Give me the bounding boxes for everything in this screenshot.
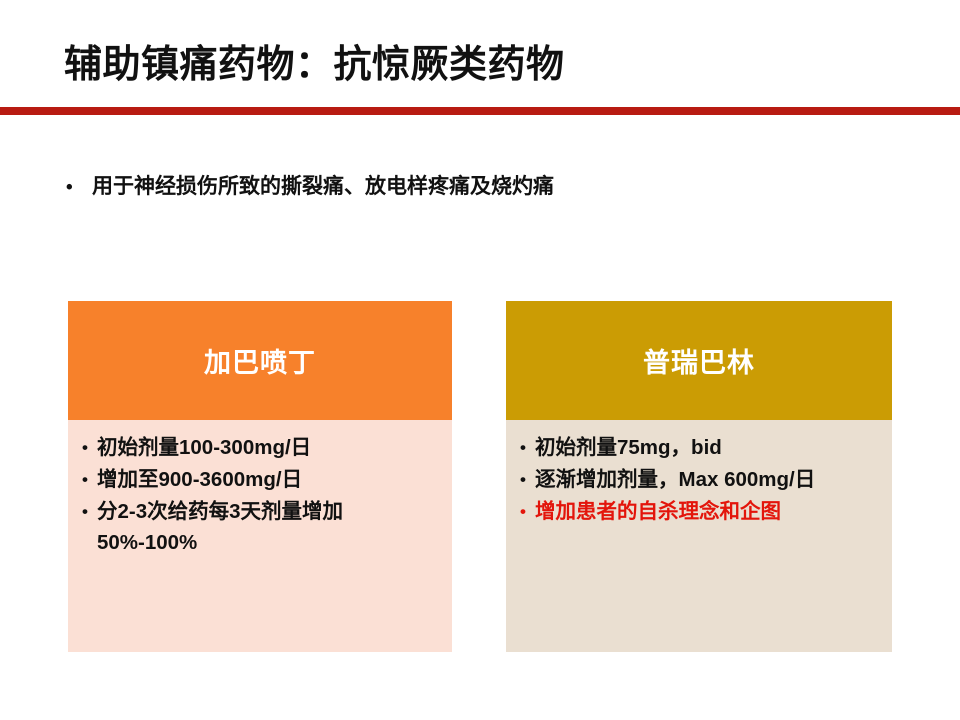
bullet-marker-icon: • bbox=[66, 173, 92, 203]
page-title: 辅助镇痛药物：抗惊厥类药物 bbox=[64, 40, 924, 90]
bullet-marker-icon: • bbox=[520, 496, 535, 527]
bullet-marker-icon: • bbox=[82, 464, 97, 495]
list-item: • 逐渐增加剂量，Max 600mg/日 bbox=[520, 464, 878, 495]
list-item-text: 分2-3次给药每3天剂量增加50%-100% bbox=[97, 496, 438, 558]
list-item-text: 增加患者的自杀理念和企图 bbox=[535, 496, 878, 527]
lead-bullet-text: 用于神经损伤所致的撕裂痛、放电样疼痛及烧灼痛 bbox=[92, 172, 906, 202]
list-item: • 分2-3次给药每3天剂量增加50%-100% bbox=[82, 496, 438, 558]
drug-card-pregabalin-body: • 初始剂量75mg，bid • 逐渐增加剂量，Max 600mg/日 • 增加… bbox=[506, 420, 892, 652]
lead-bullet: • 用于神经损伤所致的撕裂痛、放电样疼痛及烧灼痛 bbox=[66, 172, 906, 203]
drug-card-gabapentin-header: 加巴喷丁 bbox=[68, 301, 452, 420]
list-item: • 初始剂量100-300mg/日 bbox=[82, 432, 438, 463]
bullet-marker-icon: • bbox=[82, 496, 97, 527]
list-item-text: 逐渐增加剂量，Max 600mg/日 bbox=[535, 464, 878, 495]
list-item-text: 初始剂量75mg，bid bbox=[535, 432, 878, 463]
list-item-text: 增加至900-3600mg/日 bbox=[97, 464, 438, 495]
bullet-marker-icon: • bbox=[520, 464, 535, 495]
slide: 辅助镇痛药物：抗惊厥类药物 • 用于神经损伤所致的撕裂痛、放电样疼痛及烧灼痛 加… bbox=[0, 0, 960, 720]
drug-card-pregabalin: 普瑞巴林 • 初始剂量75mg，bid • 逐渐增加剂量，Max 600mg/日… bbox=[506, 301, 892, 652]
list-item: • 增加至900-3600mg/日 bbox=[82, 464, 438, 495]
title-divider-rule bbox=[0, 107, 960, 115]
drug-card-gabapentin: 加巴喷丁 • 初始剂量100-300mg/日 • 增加至900-3600mg/日… bbox=[68, 301, 452, 652]
list-item: • 初始剂量75mg，bid bbox=[520, 432, 878, 463]
list-item-text: 初始剂量100-300mg/日 bbox=[97, 432, 438, 463]
list-item-warning: • 增加患者的自杀理念和企图 bbox=[520, 496, 878, 527]
drug-card-gabapentin-body: • 初始剂量100-300mg/日 • 增加至900-3600mg/日 • 分2… bbox=[68, 420, 452, 652]
drug-card-pregabalin-header: 普瑞巴林 bbox=[506, 301, 892, 420]
bullet-marker-icon: • bbox=[82, 432, 97, 463]
bullet-marker-icon: • bbox=[520, 432, 535, 463]
